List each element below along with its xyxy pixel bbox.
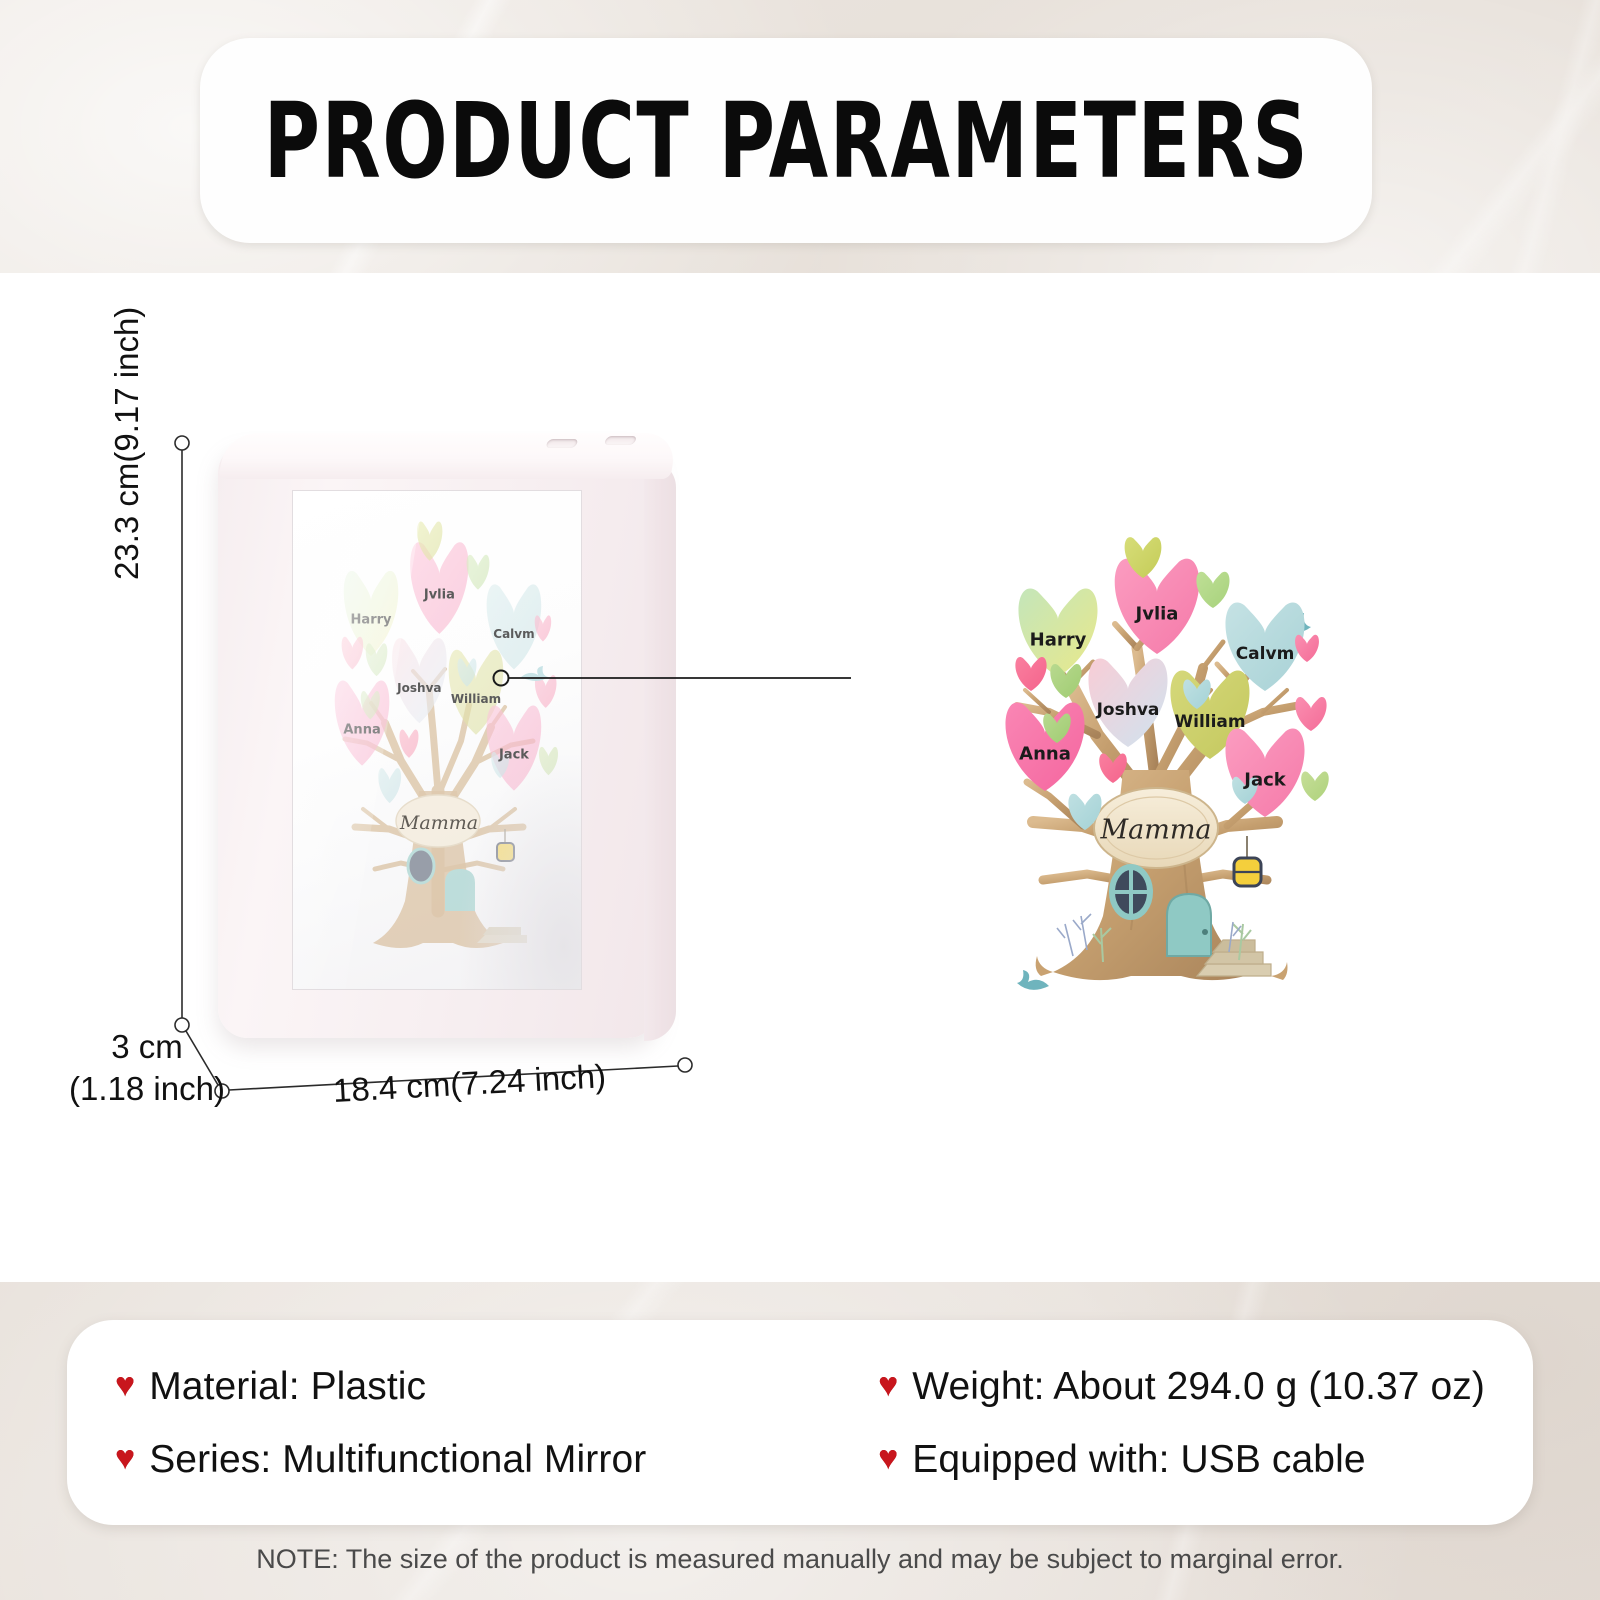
leaf-label-jvlia: Jvlia bbox=[1136, 604, 1179, 625]
dimension-height-label: 23.3 cm(9.17 inch) bbox=[108, 307, 146, 580]
heart-icon: ♥ bbox=[878, 1368, 898, 1402]
heart-icon: ♥ bbox=[115, 1368, 135, 1402]
spec-label-series: Series: Multifunctional Mirror bbox=[149, 1438, 646, 1482]
leaf-label-anna: Anna bbox=[1019, 744, 1071, 765]
heart-leaf-decorative bbox=[366, 643, 388, 676]
spec-label-equipped-with: Equipped with: USB cable bbox=[912, 1438, 1365, 1482]
page-title: PRODUCT PARAMETERS bbox=[263, 89, 1309, 193]
heart-leaf-decorative bbox=[399, 730, 418, 758]
leaf-label-calvm: Calvm bbox=[1236, 644, 1295, 664]
tree-artwork-large: HarryJvliaCalvmJoshvaWilliamAnnaJackMamm… bbox=[945, 520, 1365, 1040]
leaf-label-jack: Jack bbox=[1244, 770, 1285, 791]
heart-leaf-decorative bbox=[1295, 635, 1319, 662]
heart-leaf-decorative bbox=[1196, 572, 1229, 608]
leaf-label-mamma: Mamma bbox=[1100, 815, 1211, 846]
heart-leaf-decorative bbox=[1015, 657, 1046, 691]
frame-side-edge bbox=[644, 459, 676, 1041]
spec-item-series: ♥ Series: Multifunctional Mirror bbox=[115, 1424, 785, 1498]
heart-leaf-decorative bbox=[361, 691, 380, 719]
heart-leaf-decorative bbox=[1295, 697, 1326, 731]
spec-item-weight: ♥ Weight: About 294.0 g (10.37 oz) bbox=[785, 1350, 1485, 1424]
heart-icon: ♥ bbox=[878, 1441, 898, 1475]
heart-leaf-decorative bbox=[535, 615, 552, 641]
spec-label-material: Material: Plastic bbox=[149, 1365, 426, 1409]
product-frame-photo: HarryJvliaCalvmJoshvaWilliamAnnaJackMamm… bbox=[212, 425, 692, 1040]
leaf-label-william: William bbox=[1174, 712, 1245, 732]
heart-leaf-decorative bbox=[467, 555, 490, 590]
leaf-label-joshva: Joshva bbox=[1097, 700, 1160, 720]
frame-button-mode[interactable] bbox=[604, 436, 638, 445]
leaf-label-jvlia: Jvlia bbox=[424, 588, 455, 603]
heart-leaf-decorative bbox=[1301, 771, 1329, 801]
leaf-label-harry: Harry bbox=[1030, 630, 1087, 651]
heart-leaf-decorative bbox=[378, 768, 401, 803]
mirror-glare bbox=[460, 755, 582, 990]
heart-leaf-harry bbox=[344, 571, 399, 656]
frame-mirror-panel: HarryJvliaCalvmJoshvaWilliamAnnaJackMamm… bbox=[292, 490, 582, 990]
leaf-label-william: William bbox=[451, 692, 501, 706]
spec-item-equipped-with: ♥ Equipped with: USB cable bbox=[785, 1424, 1485, 1498]
heart-icon: ♥ bbox=[115, 1441, 135, 1475]
spec-item-material: ♥ Material: Plastic bbox=[115, 1350, 785, 1424]
leaf-label-calvm: Calvm bbox=[493, 627, 534, 641]
leaf-label-anna: Anna bbox=[343, 723, 380, 738]
measurement-note: NOTE: The size of the product is measure… bbox=[0, 1544, 1600, 1575]
title-card: PRODUCT PARAMETERS bbox=[200, 38, 1372, 243]
specifications-card: ♥ Material: Plastic ♥ Weight: About 294.… bbox=[67, 1320, 1533, 1525]
heart-leaf-anna bbox=[335, 680, 390, 765]
leaf-label-harry: Harry bbox=[351, 613, 392, 628]
frame-button-power[interactable] bbox=[545, 439, 579, 448]
heart-leaf-decorative bbox=[342, 637, 364, 670]
dimension-depth-line2: (1.18 inch) bbox=[52, 1068, 242, 1110]
frame-top-edge bbox=[218, 433, 679, 479]
leaf-label-mamma: Mamma bbox=[400, 812, 478, 834]
leaf-label-jack: Jack bbox=[499, 748, 529, 763]
spec-label-weight: Weight: About 294.0 g (10.37 oz) bbox=[912, 1365, 1485, 1409]
leaf-label-joshva: Joshva bbox=[397, 681, 441, 695]
